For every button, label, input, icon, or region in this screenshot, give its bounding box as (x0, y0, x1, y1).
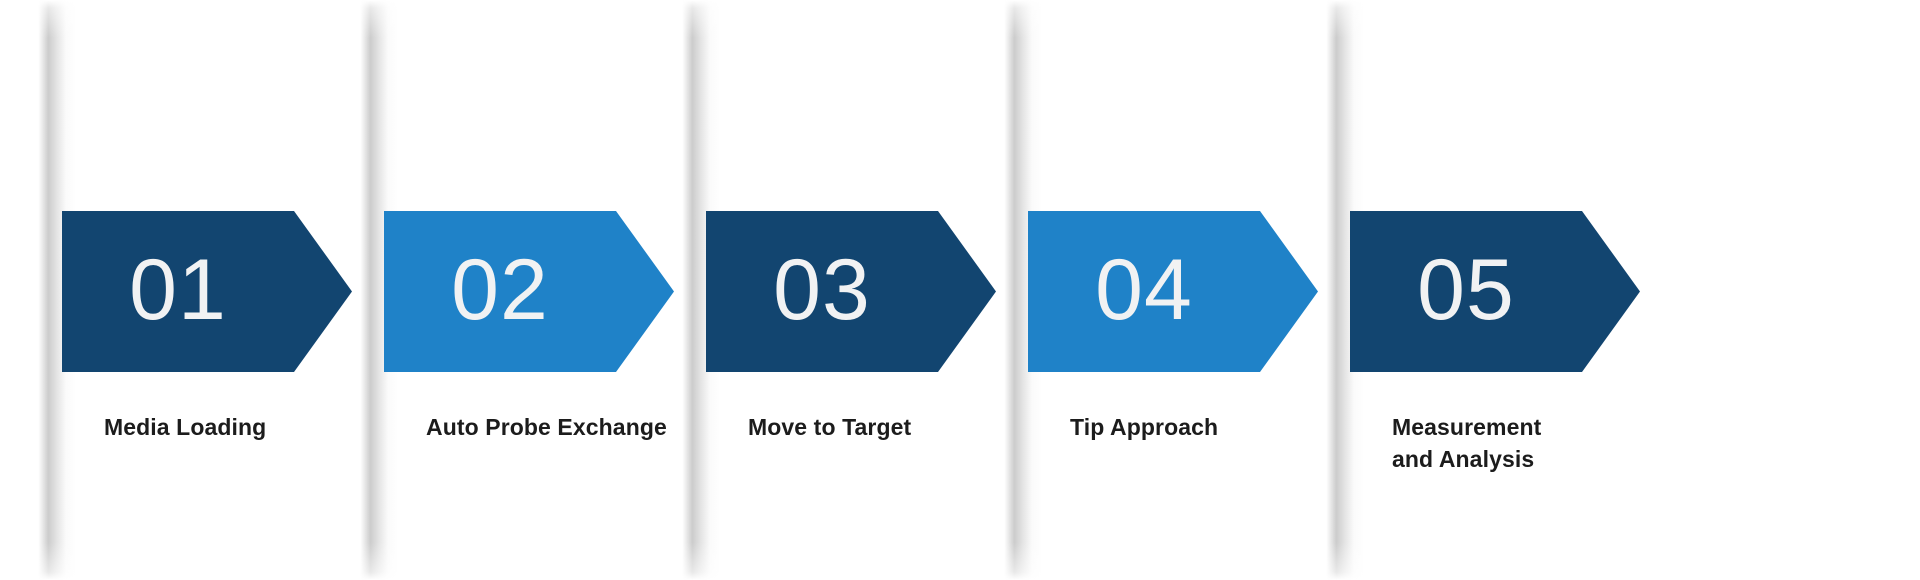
step-label: Media Loading (104, 412, 354, 444)
step-label: Move to Target (748, 412, 998, 444)
process-step-card-02: 02Auto Probe Exchange (352, 0, 674, 580)
step-number: 02 (384, 211, 616, 372)
step-label: Measurement and Analysis (1392, 412, 1642, 475)
step-number: 01 (62, 211, 294, 372)
process-step-card-04: 04Tip Approach (996, 0, 1318, 580)
process-step-card-01: 01Media Loading (30, 0, 352, 580)
step-number: 03 (706, 211, 938, 372)
step-number: 05 (1350, 211, 1582, 372)
process-step-card-05: 05Measurement and Analysis (1318, 0, 1640, 580)
step-label: Tip Approach (1070, 412, 1320, 444)
process-flow-diagram: 01Media Loading02Auto Probe Exchange03Mo… (0, 0, 1920, 580)
step-label: Auto Probe Exchange (426, 412, 676, 444)
step-number: 04 (1028, 211, 1260, 372)
process-step-card-03: 03Move to Target (674, 0, 996, 580)
